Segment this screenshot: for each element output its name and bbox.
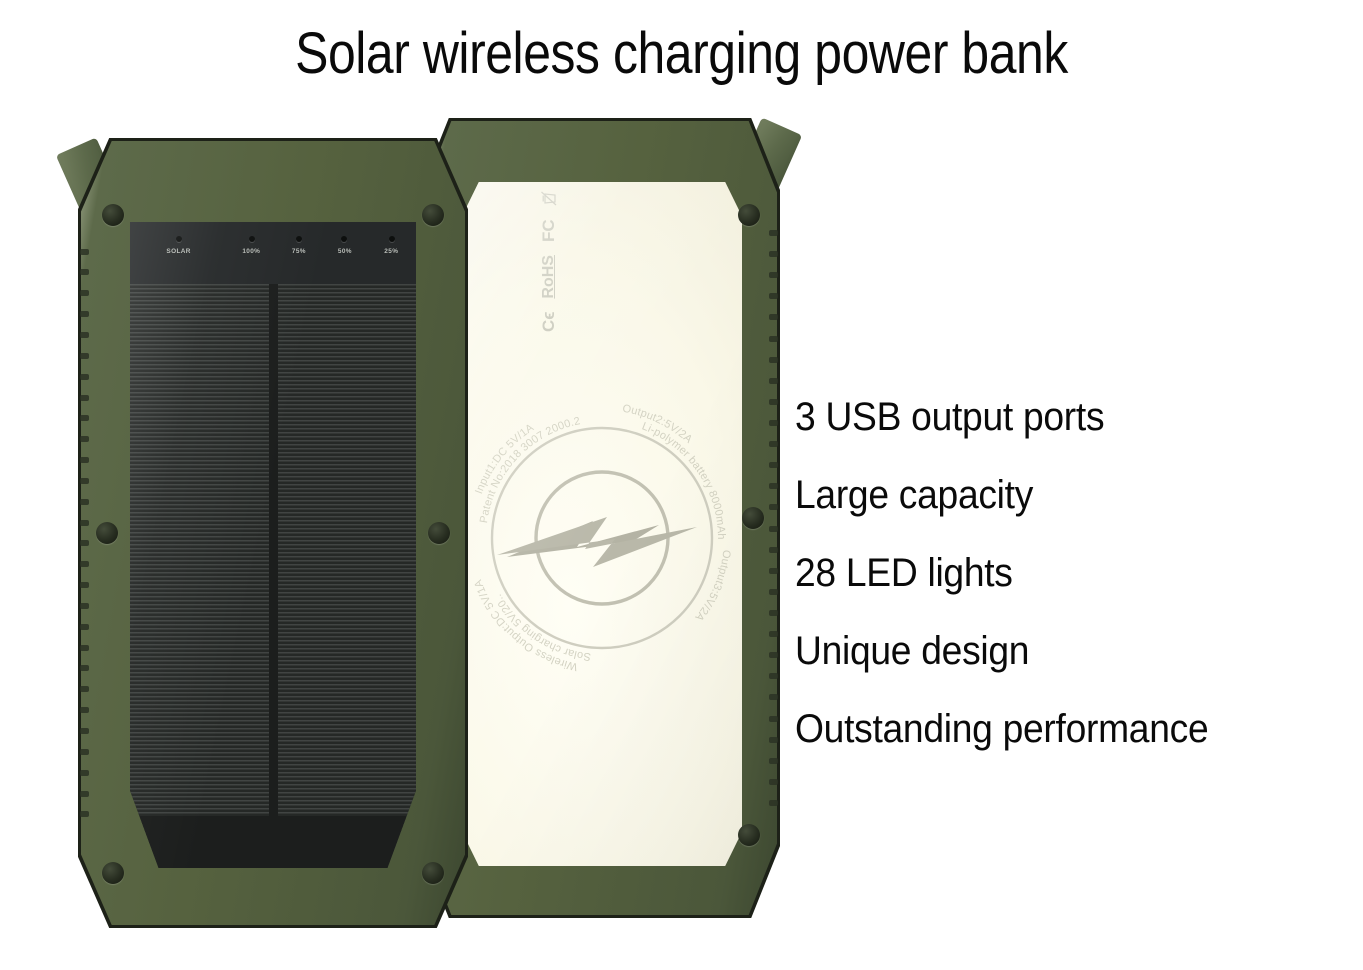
solar-panel-bottom-bar: [130, 816, 416, 868]
product-image: Cϵ RoHS FC Made in: [0, 110, 800, 940]
ce-mark: Cϵ: [540, 312, 557, 332]
feature-item: 28 LED lights: [795, 534, 1316, 612]
certification-marks: Cϵ RoHS FC Made in: [540, 182, 557, 332]
back-panel: Cϵ RoHS FC Made in: [462, 182, 742, 866]
feature-item: Large capacity: [795, 456, 1316, 534]
rohs-mark: RoHS: [540, 255, 557, 299]
led-dot-icon: [176, 236, 182, 242]
feature-item: Unique design: [795, 612, 1316, 690]
led-dot-icon: [296, 236, 302, 242]
side-screw: [96, 522, 118, 544]
side-grip-ridges: [80, 249, 89, 818]
corner-screw: [102, 862, 124, 884]
side-screw: [428, 522, 450, 544]
led-indicator-row: SOLAR 100% 75% 50%: [130, 236, 416, 276]
corner-screw: [422, 204, 444, 226]
corner-screw: [102, 204, 124, 226]
led-label: SOLAR: [134, 248, 223, 255]
led-dot-icon: [341, 236, 347, 242]
power-bank-solar-view: SOLAR 100% 75% 50%: [78, 138, 468, 928]
led-indicator-75: 75%: [276, 236, 322, 256]
corner-screw: [422, 862, 444, 884]
corner-screw: [738, 204, 760, 226]
led-indicator-solar: SOLAR: [130, 236, 227, 256]
feature-item: Outstanding performance: [795, 690, 1316, 768]
led-indicator-50: 50%: [322, 236, 368, 256]
weee-crossed-bin-icon: [540, 191, 557, 206]
led-indicator-100: 100%: [227, 236, 276, 256]
solar-cell-divider: [269, 284, 278, 868]
led-label: 100%: [229, 248, 274, 255]
led-dot-icon: [389, 236, 395, 242]
solar-panel: SOLAR 100% 75% 50%: [130, 222, 416, 868]
corner-screw: [738, 824, 760, 846]
power-bank-back-view: Cϵ RoHS FC Made in: [420, 118, 780, 918]
feature-item: 3 USB output ports: [795, 378, 1316, 456]
page-title: Solar wireless charging power bank: [95, 18, 1267, 90]
side-grip-ridges: [769, 230, 778, 806]
led-dot-icon: [249, 236, 255, 242]
led-label: 25%: [369, 248, 414, 255]
wireless-charging-bolt-icon: [489, 425, 715, 651]
side-screw: [742, 507, 764, 529]
feature-list: 3 USB output ports Large capacity 28 LED…: [795, 378, 1355, 768]
led-indicator-25: 25%: [367, 236, 416, 256]
fcc-mark: FC: [540, 219, 557, 242]
led-indicator-band: SOLAR 100% 75% 50%: [130, 222, 416, 284]
led-label: 50%: [323, 248, 365, 255]
led-label: 75%: [278, 248, 320, 255]
